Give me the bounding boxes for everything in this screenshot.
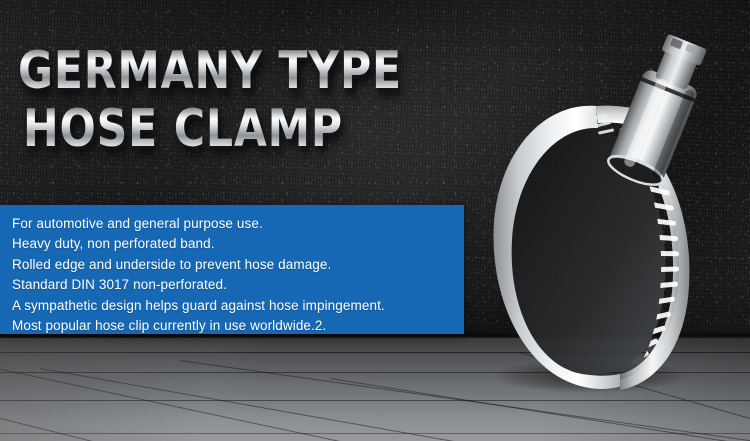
feature-list-panel: For automotive and general purpose use. …: [0, 205, 464, 334]
feature-line: Most popular hose clip currently in use …: [12, 316, 454, 336]
page-title: GERMANY TYPE HOSE CLAMP: [18, 48, 486, 154]
feature-line: Rolled edge and underside to prevent hos…: [12, 255, 454, 275]
feature-line: Standard DIN 3017 non-perforated.: [12, 275, 454, 295]
headline-line-2: HOSE CLAMP: [23, 106, 403, 154]
feature-line: Heavy duty, non perforated band.: [12, 234, 454, 254]
product-banner: GERMANY TYPE HOSE CLAMP For automotive a…: [0, 0, 750, 441]
feature-line: A sympathetic design helps guard against…: [12, 296, 454, 316]
headline-line-1: GERMANY TYPE: [18, 48, 402, 96]
feature-line: For automotive and general purpose use.: [12, 214, 454, 234]
hose-clamp-product-image: [470, 24, 750, 424]
